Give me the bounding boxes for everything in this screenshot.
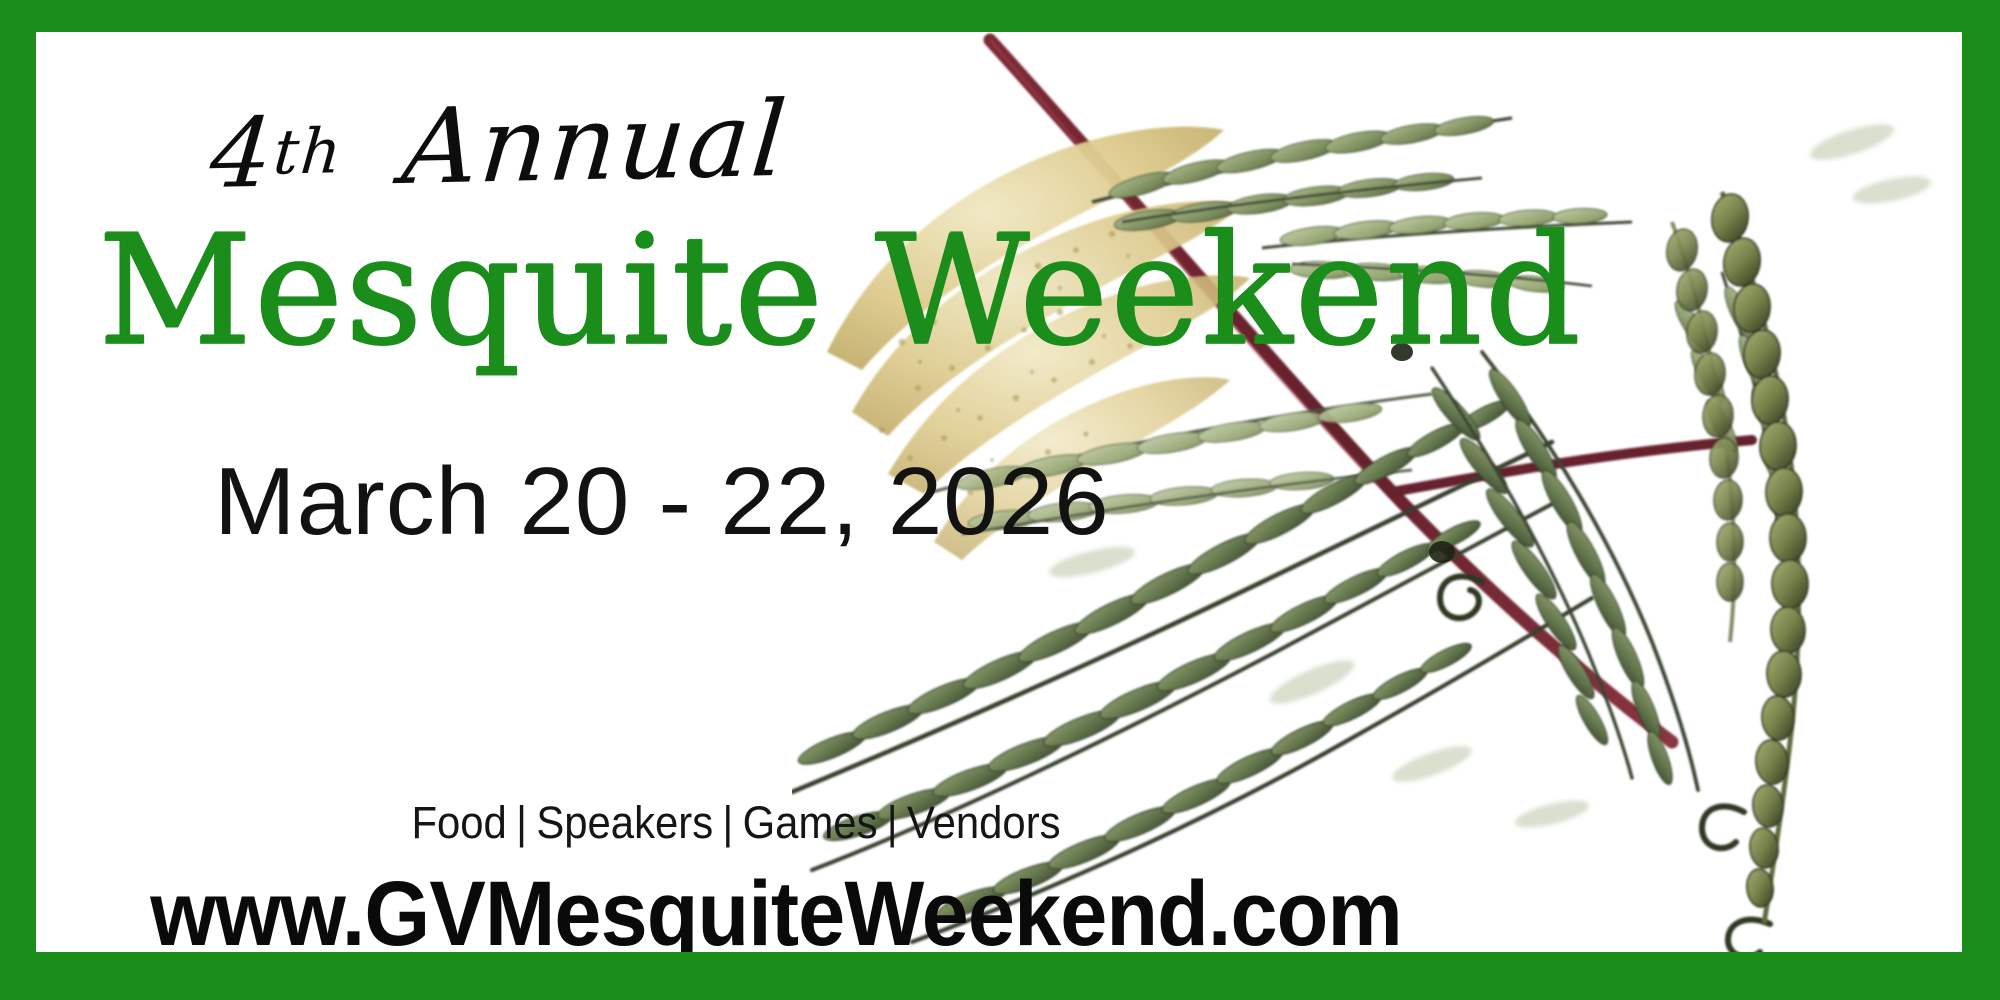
feature-item-vendors: Vendors (907, 797, 1061, 848)
event-title: Mesquite Weekend (98, 202, 1583, 379)
feature-item-games: Games (743, 797, 878, 848)
ordinal-number: 4 (206, 97, 279, 210)
website-url[interactable]: www.GVMesquiteWeekend.com (95, 862, 1457, 952)
ordinal-suffix: th (271, 114, 346, 188)
branch-stem (990, 40, 1752, 742)
leaf-frond-far-right (1670, 272, 1791, 532)
seed-pods (1664, 192, 1809, 924)
event-dates: March 20 - 22, 2026 (214, 447, 1110, 557)
feature-separator: | (878, 797, 907, 848)
poster-canvas: 4thAnnual Mesquite Weekend March 20 - 22… (36, 32, 1962, 952)
feature-item-food: Food (411, 797, 506, 848)
features-list: Food|Speakers|Games|Vendors (85, 797, 1387, 849)
tendril-curls (1440, 576, 1770, 952)
ordinal-heading: 4thAnnual (206, 78, 793, 212)
feature-separator: | (507, 797, 536, 848)
feature-item-speakers: Speakers (536, 797, 713, 848)
leaf-frond-right (1427, 352, 1698, 790)
ordinal-word: Annual (398, 78, 792, 208)
poster-root: 4thAnnual Mesquite Weekend March 20 - 22… (0, 0, 2000, 1000)
feature-separator: | (713, 797, 742, 848)
